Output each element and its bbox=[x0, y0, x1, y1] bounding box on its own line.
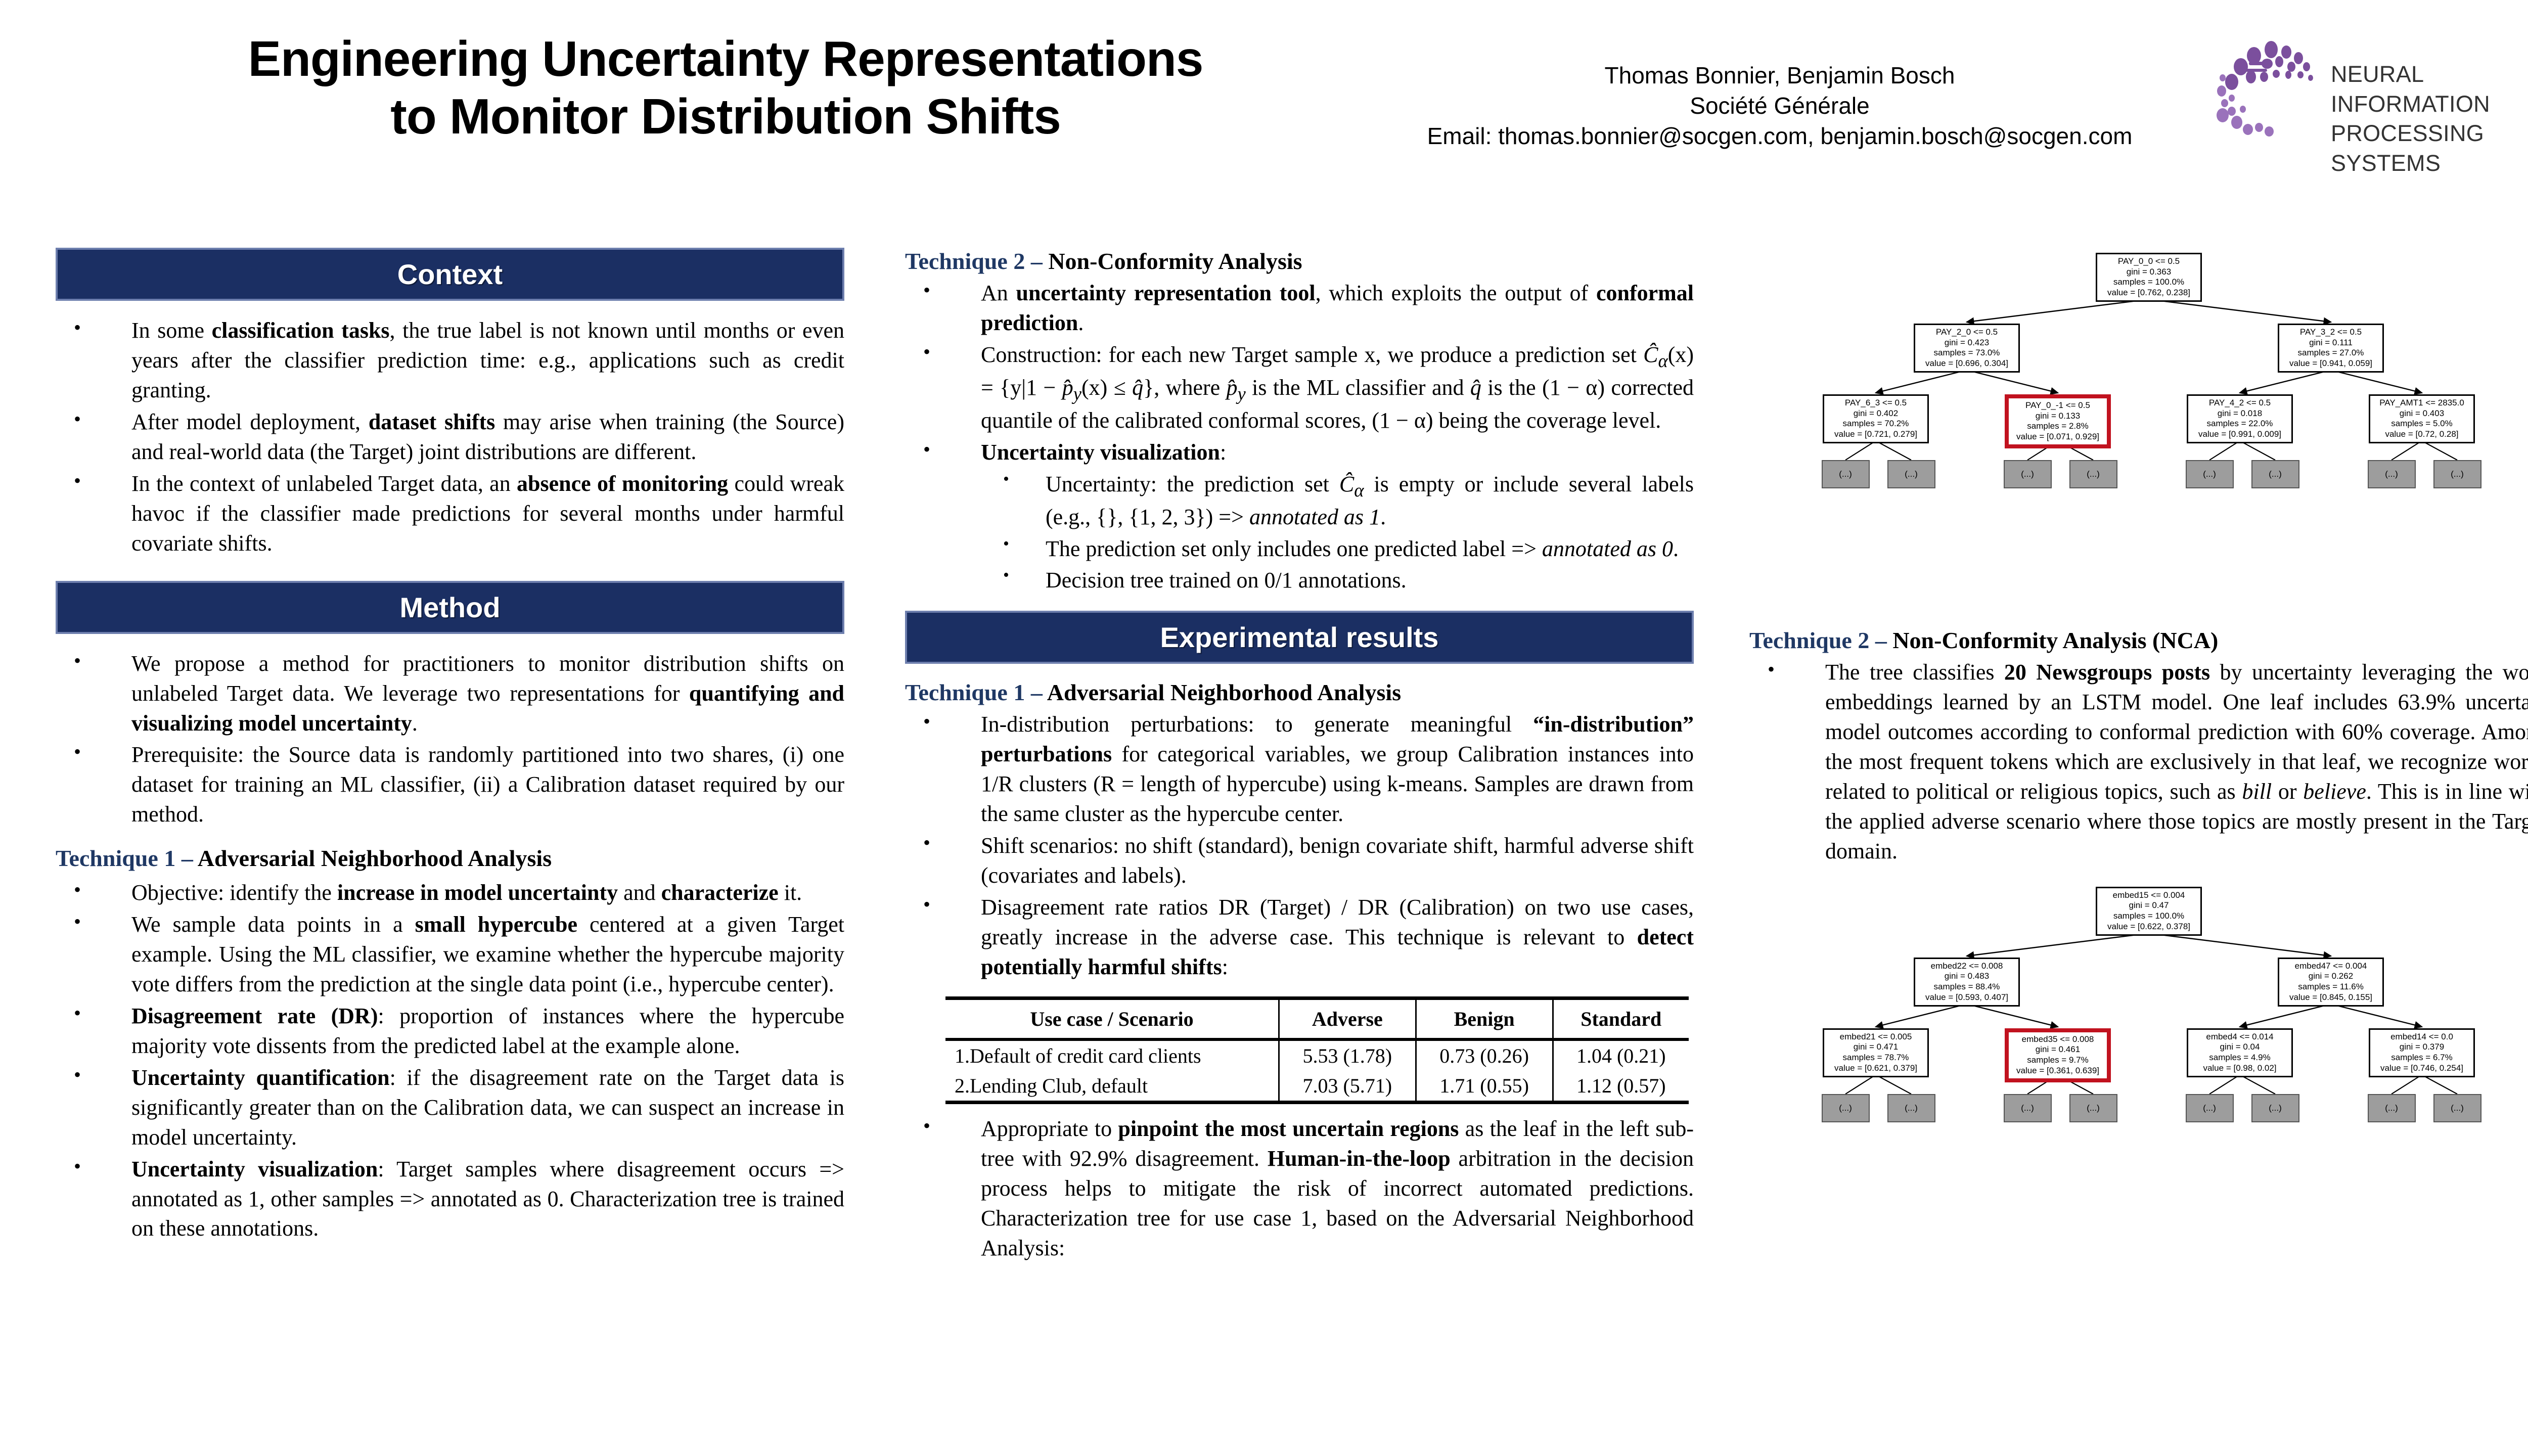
col-header-benign: Benign bbox=[1416, 998, 1553, 1040]
tree-node-value: value = [0.721, 0.279] bbox=[1827, 429, 1924, 440]
contact-email: Email: thomas.bonnier@socgen.com, benjam… bbox=[1395, 121, 2164, 152]
tree-leaf-node: (...) bbox=[2186, 460, 2234, 488]
list-item: Prerequisite: the Source data is randoml… bbox=[56, 740, 844, 830]
tree-node-gini: gini = 0.04 bbox=[2191, 1042, 2288, 1053]
tree-node: PAY_2_0 <= 0.5gini = 0.423samples = 73.0… bbox=[1914, 324, 2020, 373]
tree-node-feature: embed4 <= 0.014 bbox=[2191, 1032, 2288, 1042]
tree-node-samples: samples = 100.0% bbox=[2100, 911, 2197, 922]
neurips-swirl-icon bbox=[2215, 35, 2346, 136]
tree-leaf-node: (...) bbox=[1887, 1094, 1935, 1122]
tree-node-samples: samples = 100.0% bbox=[2100, 277, 2197, 288]
cell-usecase: 1.Default of credit card clients bbox=[945, 1039, 1279, 1071]
tree-node: embed4 <= 0.014gini = 0.04samples = 4.9%… bbox=[2187, 1028, 2293, 1077]
tree-node-feature: PAY_AMT1 <= 2835.0 bbox=[2373, 398, 2470, 408]
tree-node-samples: samples = 11.6% bbox=[2282, 982, 2379, 992]
tree-leaf-node: (...) bbox=[2433, 1094, 2481, 1122]
logo-line-2: PROCESSING SYSTEMS bbox=[2331, 119, 2528, 178]
tree-node-value: value = [0.071, 0.929] bbox=[2012, 432, 2104, 442]
tree-leaf-node: (...) bbox=[1822, 1094, 1870, 1122]
tree-node-value: value = [0.621, 0.379] bbox=[1827, 1063, 1924, 1074]
tree-node: embed47 <= 0.004gini = 0.262samples = 11… bbox=[2278, 958, 2384, 1007]
neurips-logo: NEURAL INFORMATION PROCESSING SYSTEMS bbox=[2215, 35, 2528, 136]
tree-leaf-node: (...) bbox=[1822, 460, 1870, 488]
nca-body: The tree classifies 20 Newsgroups posts … bbox=[1749, 658, 2528, 867]
tree-node-feature: embed22 <= 0.008 bbox=[1918, 961, 2015, 972]
technique1-heading: Technique 1 – Adversarial Neighborhood A… bbox=[56, 843, 844, 874]
section-title-experimental: Experimental results bbox=[1160, 621, 1439, 654]
cell-standard: 1.12 (0.57) bbox=[1553, 1071, 1689, 1103]
tree-leaf-node: (...) bbox=[2069, 460, 2117, 488]
list-item: In some classification tasks, the true l… bbox=[56, 316, 844, 405]
technique1-heading-prefix: Technique 1 – bbox=[56, 845, 198, 871]
neurips-logo-text: NEURAL INFORMATION PROCESSING SYSTEMS bbox=[2331, 60, 2528, 178]
tree-node-samples: samples = 88.4% bbox=[1918, 982, 2015, 992]
title-line-1: Engineering Uncertainty Representations bbox=[86, 30, 1365, 88]
nca-tree-20-newsgroups: embed15 <= 0.004gini = 0.47samples = 100… bbox=[1749, 882, 2528, 1236]
cell-benign: 1.71 (0.55) bbox=[1416, 1071, 1553, 1103]
tree-node-feature: PAY_0_0 <= 0.5 bbox=[2100, 256, 2197, 267]
results-table: Use case / Scenario Adverse Benign Stand… bbox=[945, 996, 1689, 1104]
list-item: In-distribution perturbations: to genera… bbox=[905, 710, 1694, 829]
tree-node-samples: samples = 4.9% bbox=[2191, 1053, 2288, 1063]
tree-node-gini: gini = 0.133 bbox=[2012, 411, 2104, 422]
tree-node-feature: PAY_0_-1 <= 0.5 bbox=[2012, 400, 2104, 411]
technique2-heading-prefix: Technique 2 – bbox=[905, 248, 1048, 274]
list-item: The prediction set only includes one pre… bbox=[981, 534, 1694, 564]
tree-leaf-node: (...) bbox=[2368, 1094, 2416, 1122]
tree-node-samples: samples = 6.7% bbox=[2373, 1053, 2470, 1063]
tree-node-feature: embed47 <= 0.004 bbox=[2282, 961, 2379, 972]
tree-node-feature: PAY_3_2 <= 0.5 bbox=[2282, 327, 2379, 338]
list-item: Shift scenarios: no shift (standard), be… bbox=[905, 831, 1694, 891]
section-banner-experimental: Experimental results bbox=[905, 611, 1694, 664]
tree-node-samples: samples = 5.0% bbox=[2373, 419, 2470, 429]
tree-node-feature: embed21 <= 0.005 bbox=[1827, 1032, 1924, 1042]
col-header-standard: Standard bbox=[1553, 998, 1689, 1040]
list-item: Disagreement rate (DR): proportion of in… bbox=[56, 1002, 844, 1061]
tree-node: PAY_4_2 <= 0.5gini = 0.018samples = 22.0… bbox=[2187, 394, 2293, 443]
tree-node: embed14 <= 0.0gini = 0.379samples = 6.7%… bbox=[2369, 1028, 2475, 1077]
tree-leaf-node: (...) bbox=[2251, 460, 2299, 488]
technique2-heading-name: Non-Conformity Analysis bbox=[1048, 248, 1302, 274]
tree-node-value: value = [0.845, 0.155] bbox=[2282, 992, 2379, 1003]
list-item: Construction: for each new Target sample… bbox=[905, 340, 1694, 436]
section-banner-method: Method bbox=[56, 581, 844, 634]
technique2-body: An uncertainty representation tool, whic… bbox=[905, 279, 1694, 596]
tree-node-samples: samples = 2.8% bbox=[2012, 421, 2104, 432]
tree-node-gini: gini = 0.262 bbox=[2282, 971, 2379, 982]
tree-node: PAY_0_0 <= 0.5gini = 0.363samples = 100.… bbox=[2096, 253, 2202, 302]
tree-node-gini: gini = 0.471 bbox=[1827, 1042, 1924, 1053]
experimental-technique1-heading: Technique 1 – Adversarial Neighborhood A… bbox=[905, 679, 1694, 706]
section-title-context: Context bbox=[397, 258, 503, 291]
tree-leaf-node: (...) bbox=[2186, 1094, 2234, 1122]
title-line-2: to Monitor Distribution Shifts bbox=[86, 88, 1365, 146]
tree-node-samples: samples = 78.7% bbox=[1827, 1053, 1924, 1063]
nca-heading-prefix: Technique 2 – bbox=[1749, 627, 1892, 653]
tree-node-value: value = [0.593, 0.407] bbox=[1918, 992, 2015, 1003]
tree-leaf-node: (...) bbox=[2004, 1094, 2052, 1122]
tree-node-value: value = [0.941, 0.059] bbox=[2282, 358, 2379, 369]
tree-node-gini: gini = 0.47 bbox=[2100, 900, 2197, 911]
technique2-sub-bullet-list: Uncertainty: the prediction set Ĉα is em… bbox=[981, 470, 1694, 596]
page-title: Engineering Uncertainty Representations … bbox=[86, 30, 1365, 145]
cell-adverse: 7.03 (5.71) bbox=[1279, 1071, 1416, 1103]
method-body: We propose a method for practitioners to… bbox=[56, 649, 844, 1244]
tree-node-value: value = [0.72, 0.28] bbox=[2373, 429, 2470, 440]
list-item: Uncertainty visualization: Target sample… bbox=[56, 1155, 844, 1244]
list-item: The tree classifies 20 Newsgroups posts … bbox=[1749, 658, 2528, 867]
author-names: Thomas Bonnier, Benjamin Bosch bbox=[1395, 61, 2164, 91]
col-header-usecase: Use case / Scenario bbox=[945, 998, 1279, 1040]
column-right: PAY_0_0 <= 0.5gini = 0.363samples = 100.… bbox=[1749, 248, 2528, 1236]
tree-node-feature: PAY_4_2 <= 0.5 bbox=[2191, 398, 2288, 408]
tree-node: embed22 <= 0.008gini = 0.483samples = 88… bbox=[1914, 958, 2020, 1007]
context-bullet-list: In some classification tasks, the true l… bbox=[56, 316, 844, 559]
column-left: Context In some classification tasks, th… bbox=[56, 248, 844, 1246]
tree-node-samples: samples = 27.0% bbox=[2282, 348, 2379, 358]
nca-bullet-list: The tree classifies 20 Newsgroups posts … bbox=[1749, 658, 2528, 867]
tree-node-feature: embed35 <= 0.008 bbox=[2012, 1034, 2104, 1045]
tree-node: PAY_3_2 <= 0.5gini = 0.111samples = 27.0… bbox=[2278, 324, 2384, 373]
tree-node-highlighted: PAY_0_-1 <= 0.5gini = 0.133samples = 2.8… bbox=[2005, 394, 2111, 448]
list-item: Disagreement rate ratios DR (Target) / D… bbox=[905, 893, 1694, 982]
tree-node-value: value = [0.762, 0.238] bbox=[2100, 288, 2197, 298]
tree-node-gini: gini = 0.402 bbox=[1827, 408, 1924, 419]
list-item: Appropriate to pinpoint the most uncerta… bbox=[905, 1114, 1694, 1263]
list-item: An uncertainty representation tool, whic… bbox=[905, 279, 1694, 338]
tree-node-gini: gini = 0.018 bbox=[2191, 408, 2288, 419]
experimental-closing-list: Appropriate to pinpoint the most uncerta… bbox=[905, 1114, 1694, 1263]
tree-node-value: value = [0.622, 0.378] bbox=[2100, 922, 2197, 932]
tree-node-gini: gini = 0.423 bbox=[1918, 338, 2015, 348]
section-title-method: Method bbox=[399, 591, 500, 624]
exp-technique1-prefix: Technique 1 – bbox=[905, 679, 1047, 705]
list-item: Decision tree trained on 0/1 annotations… bbox=[981, 566, 1694, 596]
tree-node: PAY_6_3 <= 0.5gini = 0.402samples = 70.2… bbox=[1823, 394, 1929, 443]
list-item: We sample data points in a small hypercu… bbox=[56, 910, 844, 999]
poster-canvas: Engineering Uncertainty Representations … bbox=[0, 0, 2528, 1456]
technique2-heading: Technique 2 – Non-Conformity Analysis bbox=[905, 248, 1694, 275]
cell-adverse: 5.53 (1.78) bbox=[1279, 1039, 1416, 1071]
tree-node-value: value = [0.361, 0.639] bbox=[2012, 1066, 2104, 1076]
exp-technique1-name: Adversarial Neighborhood Analysis bbox=[1047, 679, 1401, 705]
section-banner-context: Context bbox=[56, 248, 844, 301]
table-header-row: Use case / Scenario Adverse Benign Stand… bbox=[945, 998, 1689, 1040]
tree-node-feature: embed14 <= 0.0 bbox=[2373, 1032, 2470, 1042]
tree-node-feature: embed15 <= 0.004 bbox=[2100, 890, 2197, 901]
characterization-tree-use-case-1: PAY_0_0 <= 0.5gini = 0.363samples = 100.… bbox=[1749, 248, 2528, 622]
tree-node-gini: gini = 0.379 bbox=[2373, 1042, 2470, 1053]
technique1-heading-name: Adversarial Neighborhood Analysis bbox=[198, 845, 552, 871]
tree-node-samples: samples = 9.7% bbox=[2012, 1055, 2104, 1066]
tree-node-value: value = [0.98, 0.02] bbox=[2191, 1063, 2288, 1074]
affiliation: Société Générale bbox=[1395, 91, 2164, 121]
poster-header: Engineering Uncertainty Representations … bbox=[0, 0, 2528, 202]
tree-node: PAY_AMT1 <= 2835.0gini = 0.403samples = … bbox=[2369, 394, 2475, 443]
tree-node-gini: gini = 0.483 bbox=[1918, 971, 2015, 982]
list-item: Objective: identify the increase in mode… bbox=[56, 878, 844, 908]
tree-node-samples: samples = 70.2% bbox=[1827, 419, 1924, 429]
logo-line-1: NEURAL INFORMATION bbox=[2331, 60, 2528, 119]
col-header-adverse: Adverse bbox=[1279, 998, 1416, 1040]
tree-node-value: value = [0.696, 0.304] bbox=[1918, 358, 2015, 369]
tree-leaf-node: (...) bbox=[2368, 460, 2416, 488]
tree-node-highlighted: embed35 <= 0.008gini = 0.461samples = 9.… bbox=[2005, 1028, 2111, 1082]
tree-node: embed21 <= 0.005gini = 0.471samples = 78… bbox=[1823, 1028, 1929, 1077]
list-item: Uncertainty quantification: if the disag… bbox=[56, 1063, 844, 1153]
experimental-closing-body: Appropriate to pinpoint the most uncerta… bbox=[905, 1114, 1694, 1263]
tree-node-gini: gini = 0.363 bbox=[2100, 267, 2197, 278]
technique1-bullet-list: Objective: identify the increase in mode… bbox=[56, 878, 844, 1244]
list-item: In the context of unlabeled Target data,… bbox=[56, 469, 844, 559]
nca-heading: Technique 2 – Non-Conformity Analysis (N… bbox=[1749, 627, 2528, 654]
cell-benign: 0.73 (0.26) bbox=[1416, 1039, 1553, 1071]
cell-standard: 1.04 (0.21) bbox=[1553, 1039, 1689, 1071]
tree-node-gini: gini = 0.461 bbox=[2012, 1044, 2104, 1055]
experimental-title-bold: results bbox=[1346, 621, 1439, 653]
tree-leaf-node: (...) bbox=[1887, 460, 1935, 488]
tree-node-feature: PAY_2_0 <= 0.5 bbox=[1918, 327, 2015, 338]
tree-node-gini: gini = 0.111 bbox=[2282, 338, 2379, 348]
experimental-body: In-distribution perturbations: to genera… bbox=[905, 710, 1694, 982]
technique2-bullet-list: An uncertainty representation tool, whic… bbox=[905, 279, 1694, 468]
experimental-title-plain: Experimental bbox=[1160, 621, 1346, 653]
tree-node-feature: PAY_6_3 <= 0.5 bbox=[1827, 398, 1924, 408]
column-middle: Technique 2 – Non-Conformity Analysis An… bbox=[905, 248, 1694, 1265]
list-item: After model deployment, dataset shifts m… bbox=[56, 407, 844, 467]
tree-leaf-node: (...) bbox=[2433, 460, 2481, 488]
results-table-wrapper: Use case / Scenario Adverse Benign Stand… bbox=[945, 996, 1689, 1104]
cell-usecase: 2.Lending Club, default bbox=[945, 1071, 1279, 1103]
method-bullet-list: We propose a method for practitioners to… bbox=[56, 649, 844, 830]
tree-node-value: value = [0.746, 0.254] bbox=[2373, 1063, 2470, 1074]
list-item: Uncertainty visualization: bbox=[905, 438, 1694, 468]
list-item: Uncertainty: the prediction set Ĉα is em… bbox=[981, 470, 1694, 532]
experimental-bullet-list: In-distribution perturbations: to genera… bbox=[905, 710, 1694, 982]
tree-leaf-node: (...) bbox=[2069, 1094, 2117, 1122]
tree-leaf-node: (...) bbox=[2004, 460, 2052, 488]
tree-node: embed15 <= 0.004gini = 0.47samples = 100… bbox=[2096, 887, 2202, 936]
nca-heading-name: Non-Conformity Analysis (NCA) bbox=[1892, 627, 2218, 653]
tree-node-samples: samples = 22.0% bbox=[2191, 419, 2288, 429]
tree-node-samples: samples = 73.0% bbox=[1918, 348, 2015, 358]
table-row: 2.Lending Club, default 7.03 (5.71) 1.71… bbox=[945, 1071, 1689, 1103]
table-row: 1.Default of credit card clients 5.53 (1… bbox=[945, 1039, 1689, 1071]
list-item: We propose a method for practitioners to… bbox=[56, 649, 844, 739]
tree-leaf-node: (...) bbox=[2251, 1094, 2299, 1122]
author-block: Thomas Bonnier, Benjamin Bosch Société G… bbox=[1395, 61, 2164, 151]
tree-node-value: value = [0.991, 0.009] bbox=[2191, 429, 2288, 440]
tree-node-gini: gini = 0.403 bbox=[2373, 408, 2470, 419]
context-body: In some classification tasks, the true l… bbox=[56, 316, 844, 559]
